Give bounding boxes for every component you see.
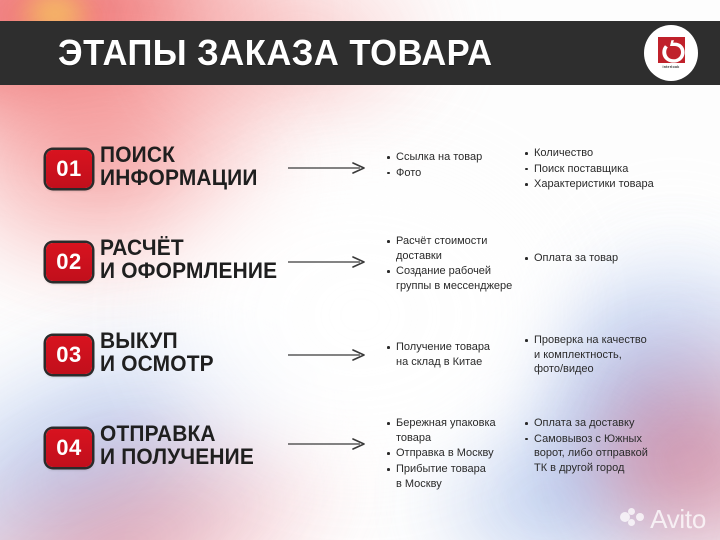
list-item: Фото	[386, 166, 518, 181]
avito-watermark-label: Avito	[650, 506, 706, 532]
infographic-canvas: ЭТАПЫ ЗАКАЗА ТОВАРА interlook 01 ПОИСК И…	[0, 0, 720, 540]
list-item: Получение товара на склад в Китае	[386, 340, 518, 369]
list-item: Расчёт стоимости доставки	[386, 234, 518, 263]
step-title-4: ОТПРАВКА И ПОЛУЧЕНИЕ	[100, 423, 254, 469]
step-2-column-b: Оплата за товар	[524, 251, 704, 267]
step-number-badge-3: 03	[46, 336, 92, 374]
list-item: Ссылка на товар	[386, 150, 518, 165]
step-arrow-4	[288, 437, 366, 449]
bullet-list: Количество Поиск поставщика Характеристи…	[524, 146, 704, 192]
steps-list: 01 ПОИСК ИНФОРМАЦИИ Ссылка на товар Фото…	[0, 0, 720, 540]
step-title-1: ПОИСК ИНФОРМАЦИИ	[100, 144, 258, 190]
list-item: Характеристики товара	[524, 177, 704, 192]
list-item: Количество	[524, 146, 704, 161]
step-4-column-a: Бережная упаковка товара Отправка в Моск…	[386, 416, 518, 493]
step-1-column-a: Ссылка на товар Фото	[386, 150, 518, 181]
step-title-2: РАСЧЁТ И ОФОРМЛЕНИЕ	[100, 237, 277, 283]
list-item: Отправка в Москву	[386, 446, 518, 461]
step-number-badge-1: 01	[46, 150, 92, 188]
step-3-column-a: Получение товара на склад в Китае	[386, 340, 518, 370]
avito-watermark: Avito	[620, 506, 706, 532]
step-number-badge-2: 02	[46, 243, 92, 281]
step-arrow-1	[288, 161, 366, 173]
step-number-badge-4: 04	[46, 429, 92, 467]
avito-dots-icon	[620, 508, 646, 530]
step-3-column-b: Проверка на качество и комплектность, фо…	[524, 333, 704, 378]
list-item: Проверка на качество и комплектность, фо…	[524, 333, 704, 377]
list-item: Поиск поставщика	[524, 162, 704, 177]
list-item: Оплата за товар	[524, 251, 704, 266]
bullet-list: Проверка на качество и комплектность, фо…	[524, 333, 704, 377]
step-arrow-3	[288, 348, 366, 360]
list-item: Самовывоз с Южных ворот, либо отправкой …	[524, 432, 704, 476]
list-item: Прибытие товара в Москву	[386, 462, 518, 491]
step-4-column-b: Оплата за доставку Самовывоз с Южных вор…	[524, 416, 704, 477]
bullet-list: Ссылка на товар Фото	[386, 150, 518, 180]
step-1-column-b: Количество Поиск поставщика Характеристи…	[524, 146, 704, 193]
list-item: Создание рабочей группы в мессенджере	[386, 264, 518, 293]
step-2-column-a: Расчёт стоимости доставки Создание рабоч…	[386, 234, 518, 295]
bullet-list: Получение товара на склад в Китае	[386, 340, 518, 369]
bullet-list: Оплата за доставку Самовывоз с Южных вор…	[524, 416, 704, 476]
bullet-list: Оплата за товар	[524, 251, 704, 266]
bullet-list: Бережная упаковка товара Отправка в Моск…	[386, 416, 518, 492]
list-item: Оплата за доставку	[524, 416, 704, 431]
step-arrow-2	[288, 255, 366, 267]
list-item: Бережная упаковка товара	[386, 416, 518, 445]
bullet-list: Расчёт стоимости доставки Создание рабоч…	[386, 234, 518, 294]
step-title-3: ВЫКУП И ОСМОТР	[100, 330, 214, 376]
